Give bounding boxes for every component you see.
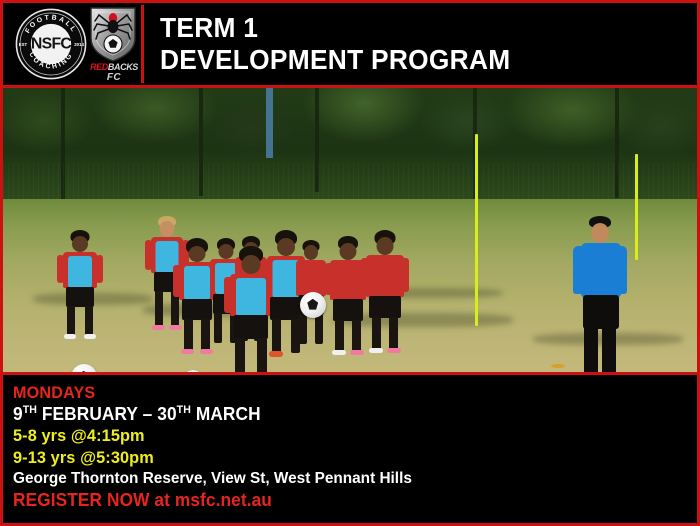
coach <box>569 216 631 375</box>
session-time-junior: 5-8 yrs @4:15pm <box>13 427 670 445</box>
player <box>55 230 105 340</box>
date-start-month: FEBRUARY <box>42 404 138 424</box>
program-day: MONDAYS <box>13 384 663 402</box>
field-fence <box>3 162 697 202</box>
poster-root: FOOTBALL COACHING NSFC EST 2014 <box>0 0 700 526</box>
header-titles: TERM 1 DEVELOPMENT PROGRAM <box>144 12 533 77</box>
training-pole <box>475 134 478 326</box>
soccer-ball <box>300 292 326 318</box>
program-date-range: 9TH FEBRUARY – 30TH MARCH <box>13 405 670 424</box>
player <box>359 230 411 358</box>
redbacks-wordmark-fc: FC <box>87 73 141 83</box>
redbacks-wordmark-white: BACKS <box>108 62 138 72</box>
date-end-number: 30 <box>157 404 176 424</box>
redbacks-spider-crest-icon <box>87 5 139 63</box>
training-session-photo <box>3 88 697 375</box>
program-venue: George Thornton Reserve, View St, West P… <box>13 471 670 488</box>
nsfc-coaching-badge-icon: FOOTBALL COACHING NSFC EST 2014 <box>15 8 87 80</box>
program-details-panel: MONDAYS 9TH FEBRUARY – 30TH MARCH 5-8 yr… <box>3 375 697 520</box>
logo-zone: FOOTBALL COACHING NSFC EST 2014 <box>3 3 141 87</box>
poster-header: FOOTBALL COACHING NSFC EST 2014 <box>3 3 697 88</box>
training-pole <box>635 154 638 260</box>
poster-title-line2: DEVELOPMENT PROGRAM <box>160 44 510 76</box>
date-start-number: 9 <box>13 404 23 424</box>
date-separator: – <box>143 404 153 424</box>
coach-pants <box>583 295 619 329</box>
svg-text:2014: 2014 <box>74 42 84 47</box>
date-end-suffix: TH <box>177 404 191 416</box>
session-time-senior: 9-13 yrs @5:30pm <box>13 449 670 467</box>
date-end-month: MARCH <box>196 404 261 424</box>
poster-title-line1: TERM 1 <box>160 12 510 44</box>
redbacks-wordmark: REDBACKS FC <box>87 63 141 85</box>
light-pole <box>266 88 273 158</box>
svg-text:EST: EST <box>19 42 28 47</box>
date-start-suffix: TH <box>23 404 37 416</box>
register-call-to-action[interactable]: REGISTER NOW at msfc.net.au <box>13 491 670 510</box>
cone-disc <box>551 364 565 368</box>
redbacks-wordmark-red: RED <box>90 62 108 72</box>
svg-text:NSFC: NSFC <box>31 35 71 52</box>
